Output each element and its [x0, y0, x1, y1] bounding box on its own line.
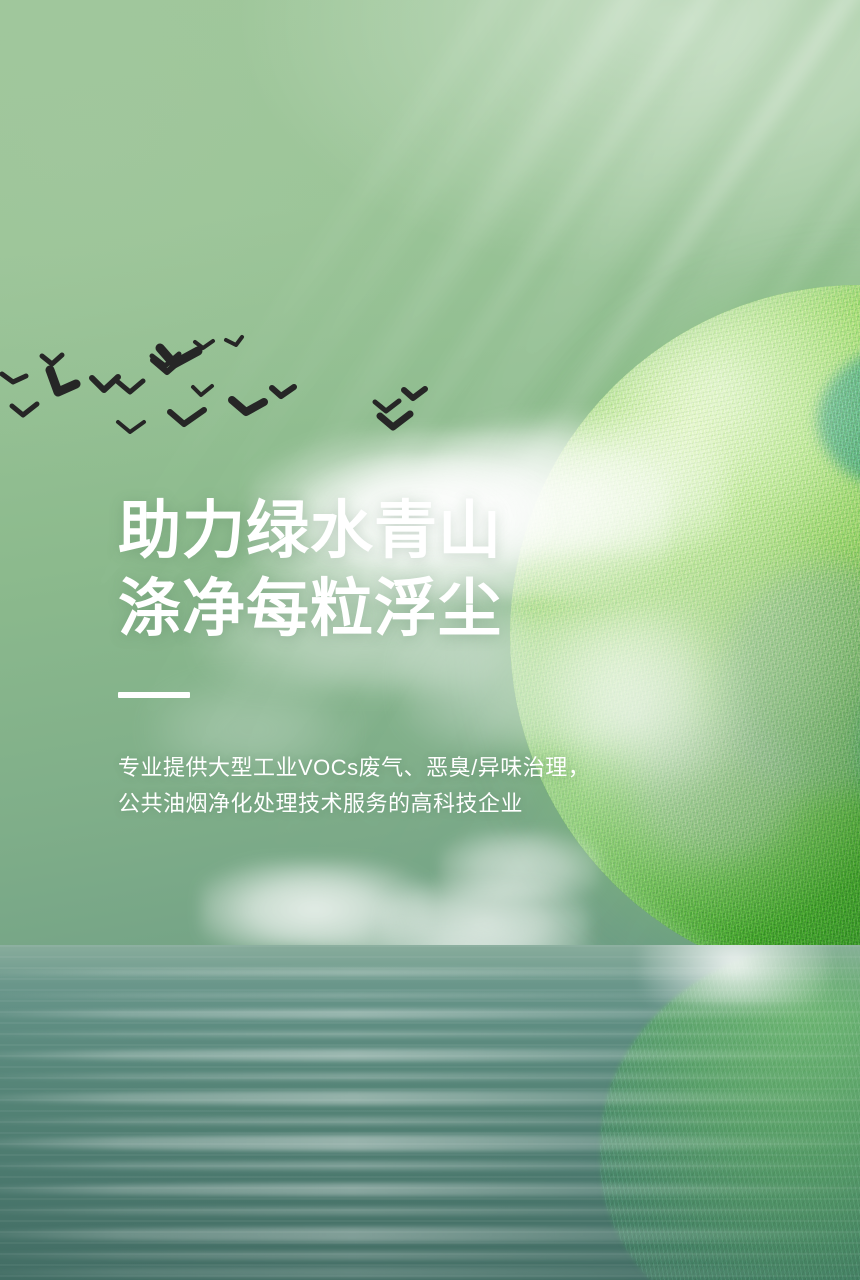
subtitle-line-2: 公共油烟净化处理技术服务的高科技企业 [118, 786, 678, 822]
subtitle-line-1: 专业提供大型工业VOCs废气、恶臭/异味治理， [118, 750, 678, 786]
cloud-icon [200, 860, 430, 950]
bird-silhouettes-svg [0, 330, 460, 460]
hero-banner: 助力绿水青山 涤净每粒浮尘 专业提供大型工业VOCs废气、恶臭/异味治理， 公共… [0, 0, 860, 1280]
headline-line-1: 助力绿水青山 [118, 492, 678, 570]
headline-line-2: 涤净每粒浮尘 [118, 570, 678, 648]
hero-text-block: 助力绿水青山 涤净每粒浮尘 专业提供大型工业VOCs废气、恶臭/异味治理， 公共… [118, 492, 678, 822]
cloud-icon [440, 830, 600, 900]
water-surface [0, 945, 860, 1280]
birds-flock-icon [0, 330, 460, 460]
divider-rule [118, 692, 190, 698]
